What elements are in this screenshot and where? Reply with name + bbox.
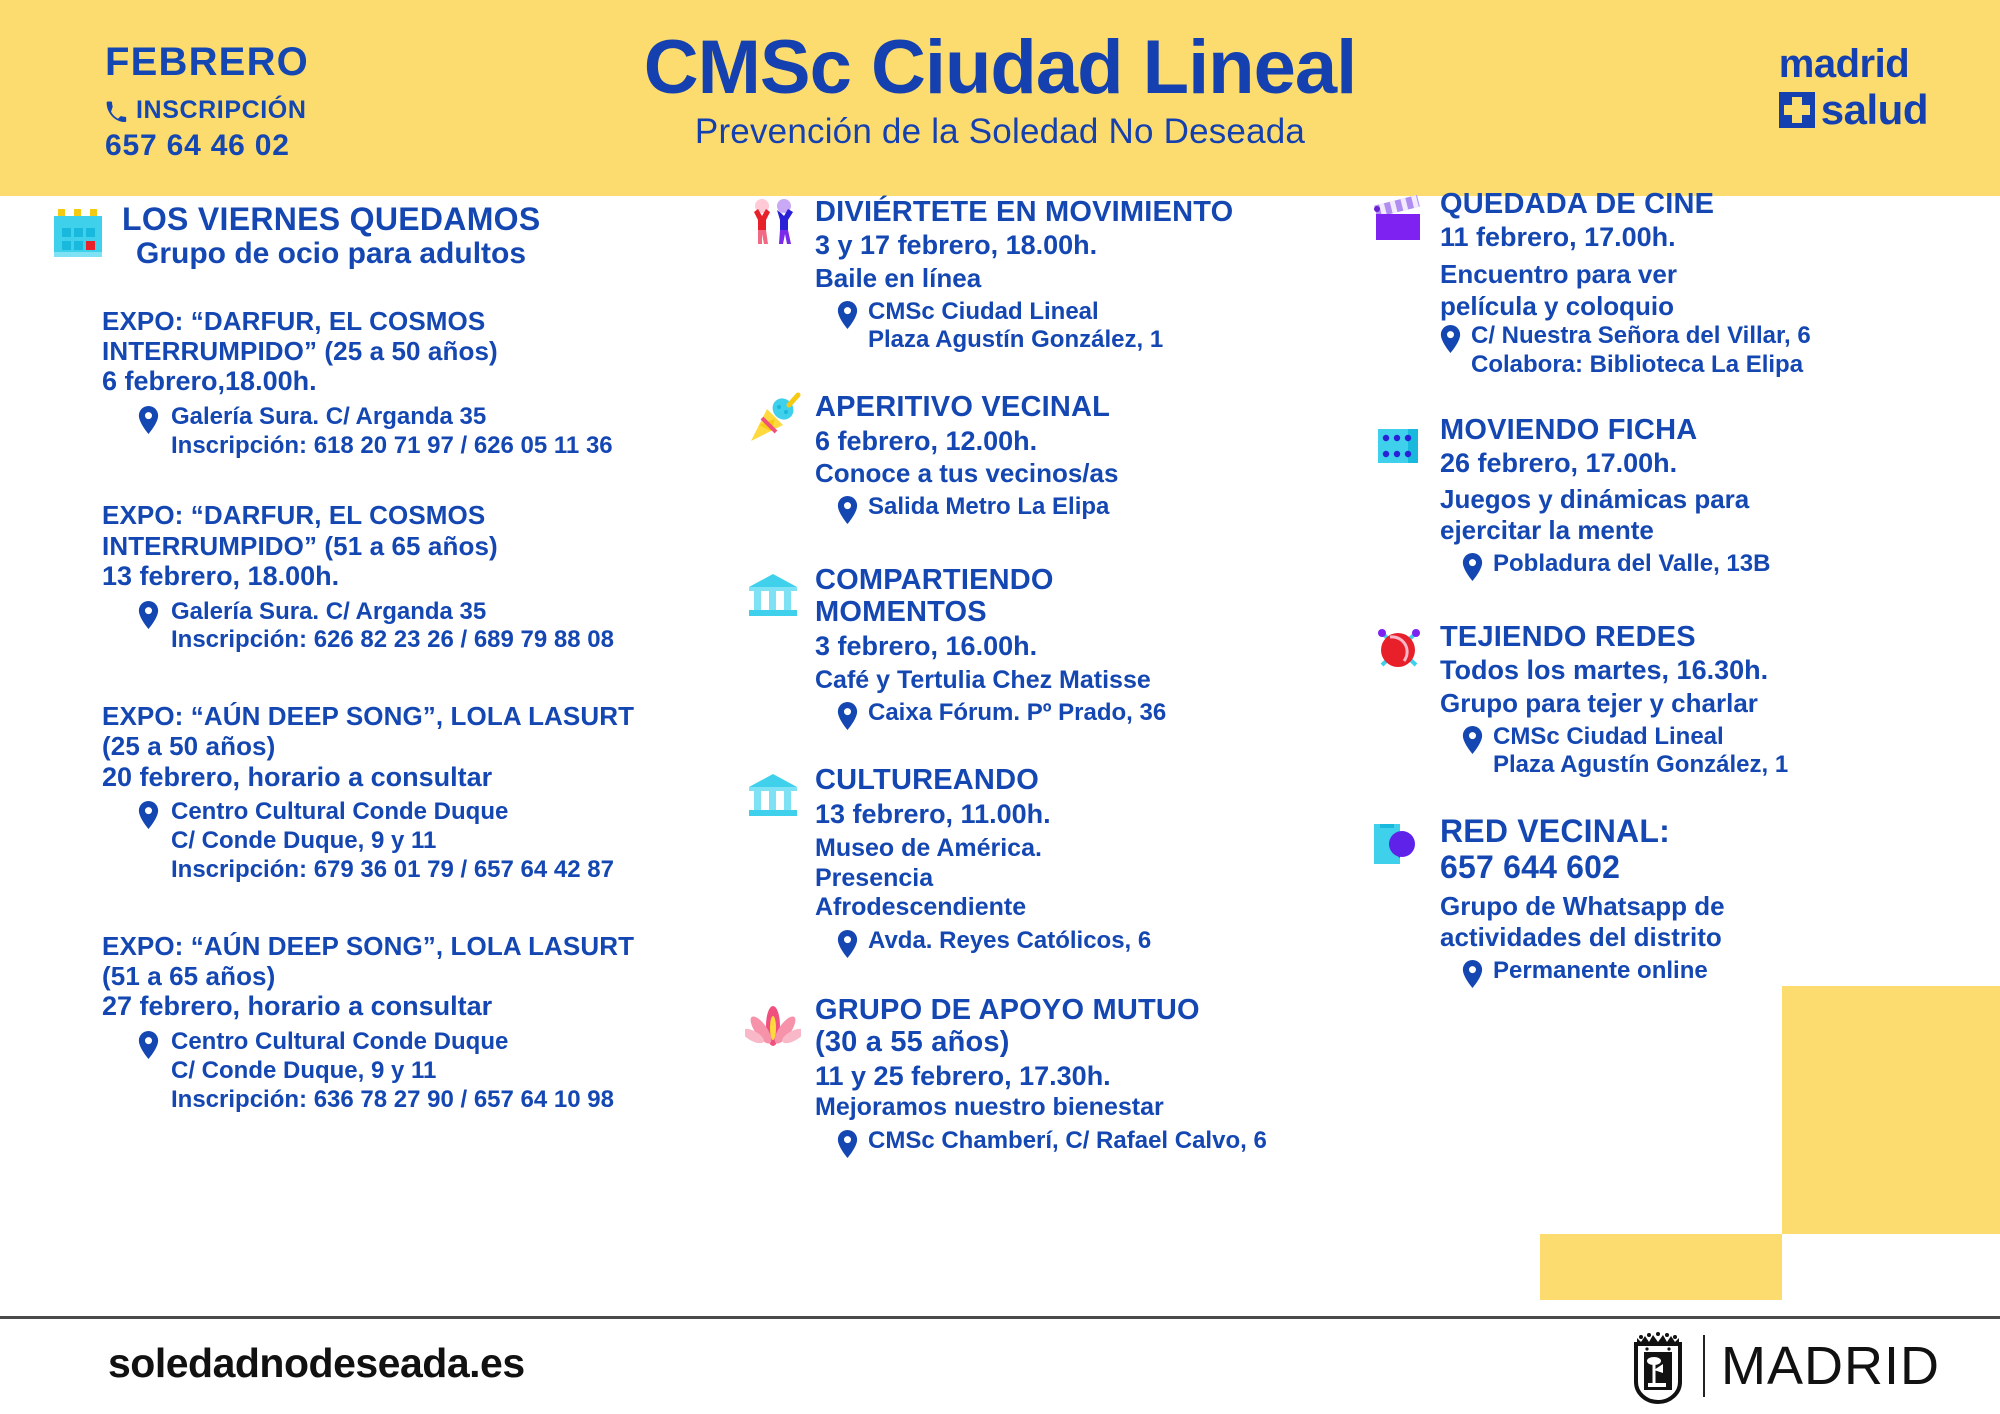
madrid-wordmark: MADRID [1721, 1335, 1940, 1397]
madrid-salud-top-word: madrid [1779, 44, 1928, 84]
madrid-city-logo: MADRID [1629, 1328, 1940, 1404]
expo-place-line-2: C/ Conde Duque, 9 y 11 [171, 1057, 614, 1086]
column-middle: DIVIÉRTETE EN MOVIMIENTO 3 y 17 febrero,… [745, 196, 1345, 1164]
expo-place-line-2: C/ Conde Duque, 9 y 11 [171, 827, 614, 856]
activity-title: TEJIENDO REDES [1440, 621, 1970, 653]
expo-block: EXPO: “DARFUR, EL COSMOS INTERRUMPIDO” (… [50, 500, 690, 655]
expo-when: 20 febrero, horario a consultar [102, 762, 690, 794]
activity-place: Avda. Reyes Católicos, 6 [815, 927, 1345, 958]
activity-place: Permanente online [1440, 957, 1970, 988]
activity-title: DIVIÉRTETE EN MOVIMIENTO [815, 196, 1345, 228]
activity-title: LOS VIERNES QUEDAMOS [122, 202, 690, 237]
activity-place: Salida Metro La Elipa [815, 493, 1345, 524]
clapperboard-icon [1370, 192, 1426, 248]
activity-subtitle: Grupo de ocio para adultos [136, 237, 690, 272]
calendar-icon [50, 206, 106, 262]
expo-title-line-1: EXPO: “AÚN DEEP SONG”, LOLA LASURT [102, 931, 690, 961]
expo-place-line-2: Inscripción: 626 82 23 26 / 689 79 88 08 [171, 626, 614, 655]
expo-title-line-1: EXPO: “DARFUR, EL COSMOS [102, 306, 690, 336]
activity-title-2: (30 a 55 años) [815, 1026, 1345, 1058]
yarn-ball-icon [1370, 623, 1426, 679]
museum-icon [745, 568, 801, 624]
activity-place: CMSc Ciudad Lineal Plaza Agustín Gonzále… [815, 298, 1345, 356]
activity-place-line-1: C/ Nuestra Señora del Villar, 6 [1471, 322, 1811, 351]
location-pin-icon [138, 601, 159, 629]
activity-desc-line-1: Grupo para tejer y charlar [1440, 688, 1970, 719]
activity-diviertete-en-movimiento: DIVIÉRTETE EN MOVIMIENTO 3 y 17 febrero,… [745, 196, 1345, 355]
header-center-block: CMSc Ciudad Lineal Prevención de la Sole… [0, 28, 2000, 152]
lotus-icon [745, 998, 801, 1054]
activity-desc-line-1: Grupo de Whatsapp de [1440, 891, 1970, 922]
expo-place-line-3: Inscripción: 636 78 27 90 / 657 64 10 98 [171, 1086, 614, 1115]
location-pin-icon [837, 930, 858, 958]
expo-when: 6 febrero,18.00h. [102, 366, 690, 398]
museum-icon [745, 768, 801, 824]
activity-desc: Café y Tertulia Chez Matisse [815, 666, 1345, 696]
activity-when: 26 febrero, 17.00h. [1440, 447, 1970, 479]
activity-when: Todos los martes, 16.30h. [1440, 654, 1970, 686]
location-pin-icon [138, 1031, 159, 1059]
expo-place-line-1: Galería Sura. C/ Arganda 35 [171, 598, 614, 627]
column-left: LOS VIERNES QUEDAMOS Grupo de ocio para … [50, 196, 690, 1114]
activity-compartiendo-momentos: COMPARTIENDO MOMENTOS 3 febrero, 16.00h.… [745, 564, 1345, 731]
activity-desc-line-2: película y coloquio [1440, 291, 1970, 322]
activity-title: RED VECINAL: [1440, 814, 1970, 850]
dancers-icon [745, 196, 801, 252]
expo-place: Galería Sura. C/ Arganda 35 Inscripción:… [102, 403, 690, 461]
madrid-salud-bottom-row: salud [1779, 89, 1928, 131]
activity-place: CMSc Ciudad Lineal Plaza Agustín Gonzále… [1440, 723, 1970, 781]
expo-title-line-1: EXPO: “DARFUR, EL COSMOS [102, 500, 690, 530]
activity-desc: Museo de América. Presencia Afrodescendi… [815, 834, 1145, 923]
activity-title: QUEDADA DE CINE [1440, 188, 1970, 220]
activity-place-line-2: Plaza Agustín González, 1 [1493, 751, 1788, 780]
location-pin-icon [1462, 960, 1483, 988]
activity-place-line-1: CMSc Ciudad Lineal [1493, 723, 1788, 752]
activity-place-line-1: Salida Metro La Elipa [868, 493, 1109, 522]
party-popper-icon [745, 391, 801, 447]
location-pin-icon [138, 801, 159, 829]
activity-place: Caixa Fórum. Pº Prado, 36 [815, 699, 1345, 730]
expo-title-line-2: INTERRUMPIDO” (51 a 65 años) [102, 531, 690, 561]
page-subtitle: Prevención de la Soledad No Deseada [0, 112, 2000, 152]
expo-block: EXPO: “DARFUR, EL COSMOS INTERRUMPIDO” (… [50, 306, 690, 461]
activity-place-line-1: Caixa Fórum. Pº Prado, 36 [868, 699, 1166, 728]
activity-title: COMPARTIENDO MOMENTOS [815, 564, 1145, 629]
activity-desc-line-2: ejercitar la mente [1440, 515, 1970, 546]
location-pin-icon [138, 406, 159, 434]
activity-place-line-1: CMSc Ciudad Lineal [868, 298, 1163, 327]
location-pin-icon [837, 1130, 858, 1158]
expo-title-line-1: EXPO: “AÚN DEEP SONG”, LOLA LASURT [102, 701, 690, 731]
location-pin-icon [837, 496, 858, 524]
activity-title: GRUPO DE APOYO MUTUO [815, 994, 1345, 1026]
activity-desc-line-1: Encuentro para ver [1440, 259, 1970, 290]
location-pin-icon [1462, 726, 1483, 754]
activity-red-vecinal: RED VECINAL: 657 644 602 Grupo de Whatsa… [1370, 814, 1970, 988]
activity-place-line-1: Avda. Reyes Católicos, 6 [868, 927, 1151, 956]
madrid-salud-bottom-word: salud [1821, 89, 1928, 131]
decorative-square-large [1782, 986, 2000, 1234]
activity-desc: Conoce a tus vecinos/as [815, 458, 1345, 489]
expo-place-line-1: Centro Cultural Conde Duque [171, 798, 614, 827]
expo-place-line-2: Inscripción: 618 20 71 97 / 626 05 11 36 [171, 432, 613, 461]
activity-desc: Mejoramos nuestro bienestar [815, 1093, 1345, 1123]
activity-place-line-1: CMSc Chamberí, C/ Rafael Calvo, 6 [868, 1127, 1267, 1156]
activity-grupo-de-apoyo-mutuo: GRUPO DE APOYO MUTUO (30 a 55 años) 11 y… [745, 994, 1345, 1158]
activity-desc: Baile en línea [815, 263, 1345, 294]
activity-place: Pobladura del Valle, 13B [1440, 550, 1970, 581]
madrid-crest-icon [1629, 1328, 1687, 1404]
activity-place-line-2: Plaza Agustín González, 1 [868, 326, 1163, 355]
expo-place: Centro Cultural Conde Duque C/ Conde Duq… [102, 1028, 690, 1114]
activity-place-line-2: Colabora: Biblioteca La Elipa [1471, 351, 1811, 380]
domino-icon [1370, 418, 1426, 474]
expo-place-line-3: Inscripción: 679 36 01 79 / 657 64 42 87 [171, 856, 614, 885]
activity-place: CMSc Chamberí, C/ Rafael Calvo, 6 [815, 1127, 1345, 1158]
decorative-square-small [1540, 1234, 1782, 1300]
activity-quedada-de-cine: QUEDADA DE CINE 11 febrero, 17.00h. Encu… [1370, 188, 1970, 380]
expo-title-line-2: INTERRUMPIDO” (25 a 50 años) [102, 336, 690, 366]
location-pin-icon [837, 301, 858, 329]
expo-when: 27 febrero, horario a consultar [102, 991, 690, 1023]
activity-tejiendo-redes: TEJIENDO REDES Todos los martes, 16.30h.… [1370, 621, 1970, 780]
page-header: FEBRERO INSCRIPCIÓN 657 64 46 02 CMSc Ci… [0, 0, 2000, 196]
expo-title-line-2: (51 a 65 años) [102, 961, 690, 991]
expo-place-line-1: Centro Cultural Conde Duque [171, 1028, 614, 1057]
activity-place-line-1: Permanente online [1493, 957, 1708, 986]
activity-title: CULTUREANDO [815, 764, 1345, 796]
activity-when: 13 febrero, 11.00h. [815, 798, 1345, 830]
activity-los-viernes-quedamos: LOS VIERNES QUEDAMOS Grupo de ocio para … [50, 202, 690, 272]
madrid-salud-logo: madrid salud [1779, 44, 1928, 131]
activity-desc-line-2: actividades del distrito [1440, 922, 1970, 953]
expo-block: EXPO: “AÚN DEEP SONG”, LOLA LASURT (51 a… [50, 931, 690, 1115]
expo-place-line-1: Galería Sura. C/ Arganda 35 [171, 403, 613, 432]
expo-title-line-2: (25 a 50 años) [102, 731, 690, 761]
medical-cross-icon [1779, 92, 1815, 128]
activity-when: 3 febrero, 16.00h. [815, 630, 1345, 662]
website-url[interactable]: soledadnodeseada.es [108, 1340, 525, 1387]
location-pin-icon [1462, 553, 1483, 581]
logo-divider [1703, 1335, 1705, 1397]
activity-title: APERITIVO VECINAL [815, 391, 1345, 423]
expo-place: Galería Sura. C/ Arganda 35 Inscripción:… [102, 598, 690, 656]
expo-when: 13 febrero, 18.00h. [102, 561, 690, 593]
expo-place: Centro Cultural Conde Duque C/ Conde Duq… [102, 798, 690, 884]
expo-block: EXPO: “AÚN DEEP SONG”, LOLA LASURT (25 a… [50, 701, 690, 885]
activity-title-2: 657 644 602 [1440, 850, 1970, 886]
column-right: QUEDADA DE CINE 11 febrero, 17.00h. Encu… [1370, 196, 1970, 994]
activity-when: 11 y 25 febrero, 17.30h. [815, 1060, 1345, 1092]
activity-place-line-1: Pobladura del Valle, 13B [1493, 550, 1770, 579]
activity-title: MOVIENDO FICHA [1440, 414, 1970, 446]
activity-when: 3 y 17 febrero, 18.00h. [815, 229, 1345, 261]
activity-aperitivo-vecinal: APERITIVO VECINAL 6 febrero, 12.00h. Con… [745, 391, 1345, 524]
activity-place: C/ Nuestra Señora del Villar, 6 Colabora… [1440, 322, 1970, 380]
page-title: CMSc Ciudad Lineal [0, 28, 2000, 108]
activity-desc-line-1: Juegos y dinámicas para [1440, 484, 1970, 515]
activity-when: 11 febrero, 17.00h. [1440, 221, 1970, 253]
chat-bubble-icon [1370, 816, 1426, 872]
activities-area: LOS VIERNES QUEDAMOS Grupo de ocio para … [0, 196, 2000, 1296]
location-pin-icon [837, 702, 858, 730]
activity-when: 6 febrero, 12.00h. [815, 425, 1345, 457]
location-pin-icon [1440, 325, 1461, 353]
activity-cultureando: CULTUREANDO 13 febrero, 11.00h. Museo de… [745, 764, 1345, 957]
activity-moviendo-ficha: MOVIENDO FICHA 26 febrero, 17.00h. Juego… [1370, 414, 1970, 581]
